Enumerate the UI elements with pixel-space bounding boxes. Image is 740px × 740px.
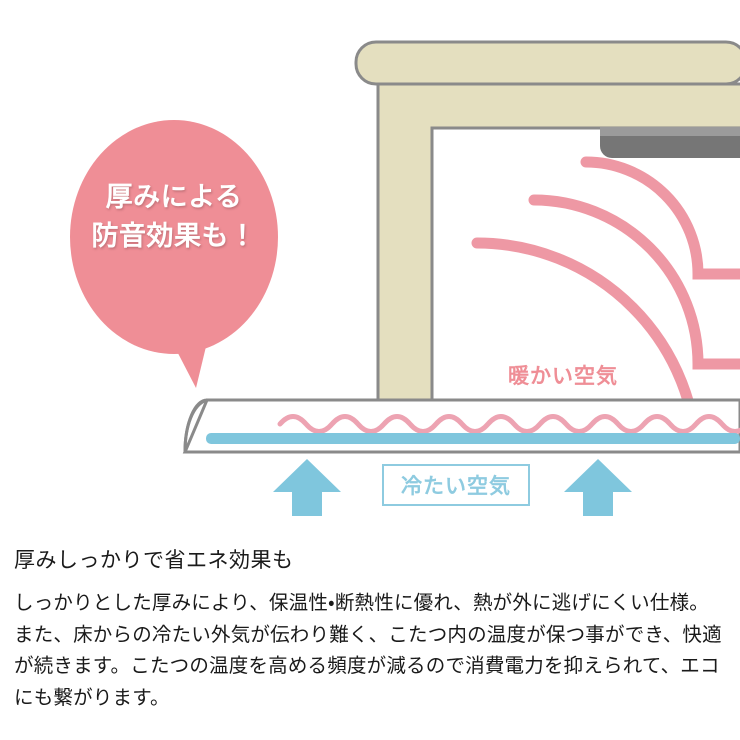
cold-air-label: 冷たい空気 — [401, 470, 511, 500]
cold-air-arrow-left — [273, 459, 341, 516]
cold-air-layer — [206, 433, 740, 444]
kotatsu-diagram-svg — [0, 0, 740, 530]
cold-air-label-box: 冷たい空気 — [382, 464, 530, 506]
warm-air-wave-2 — [534, 200, 740, 364]
section-body-text: しっかりとした厚みにより、保温性・断熱性に優れ、熱が外に逃げにくい仕様。また、床… — [14, 576, 726, 714]
kotatsu-diagram: 厚みによる 防音効果も！ 暖かい空気 冷たい空気 — [0, 0, 740, 530]
description-section: 厚みしっかりで省エネ効果も しっかりとした厚みにより、保温性・断熱性に優れ、熱が… — [0, 530, 740, 714]
speech-bubble-line-1: 厚みによる — [70, 178, 278, 217]
section-heading: 厚みしっかりで省エネ効果も — [14, 530, 726, 576]
table-top — [356, 42, 740, 84]
speech-bubble-line-2: 防音効果も！ — [70, 217, 278, 256]
kotatsu-insulation-infographic: 厚みによる 防音効果も！ 暖かい空気 冷たい空気 厚みしっかりで省エネ効果も し… — [0, 0, 740, 740]
heater-unit — [600, 127, 740, 158]
cold-air-arrow-right — [564, 459, 632, 516]
warm-air-label: 暖かい空気 — [508, 360, 618, 390]
speech-bubble-text: 厚みによる 防音効果も！ — [70, 178, 278, 257]
